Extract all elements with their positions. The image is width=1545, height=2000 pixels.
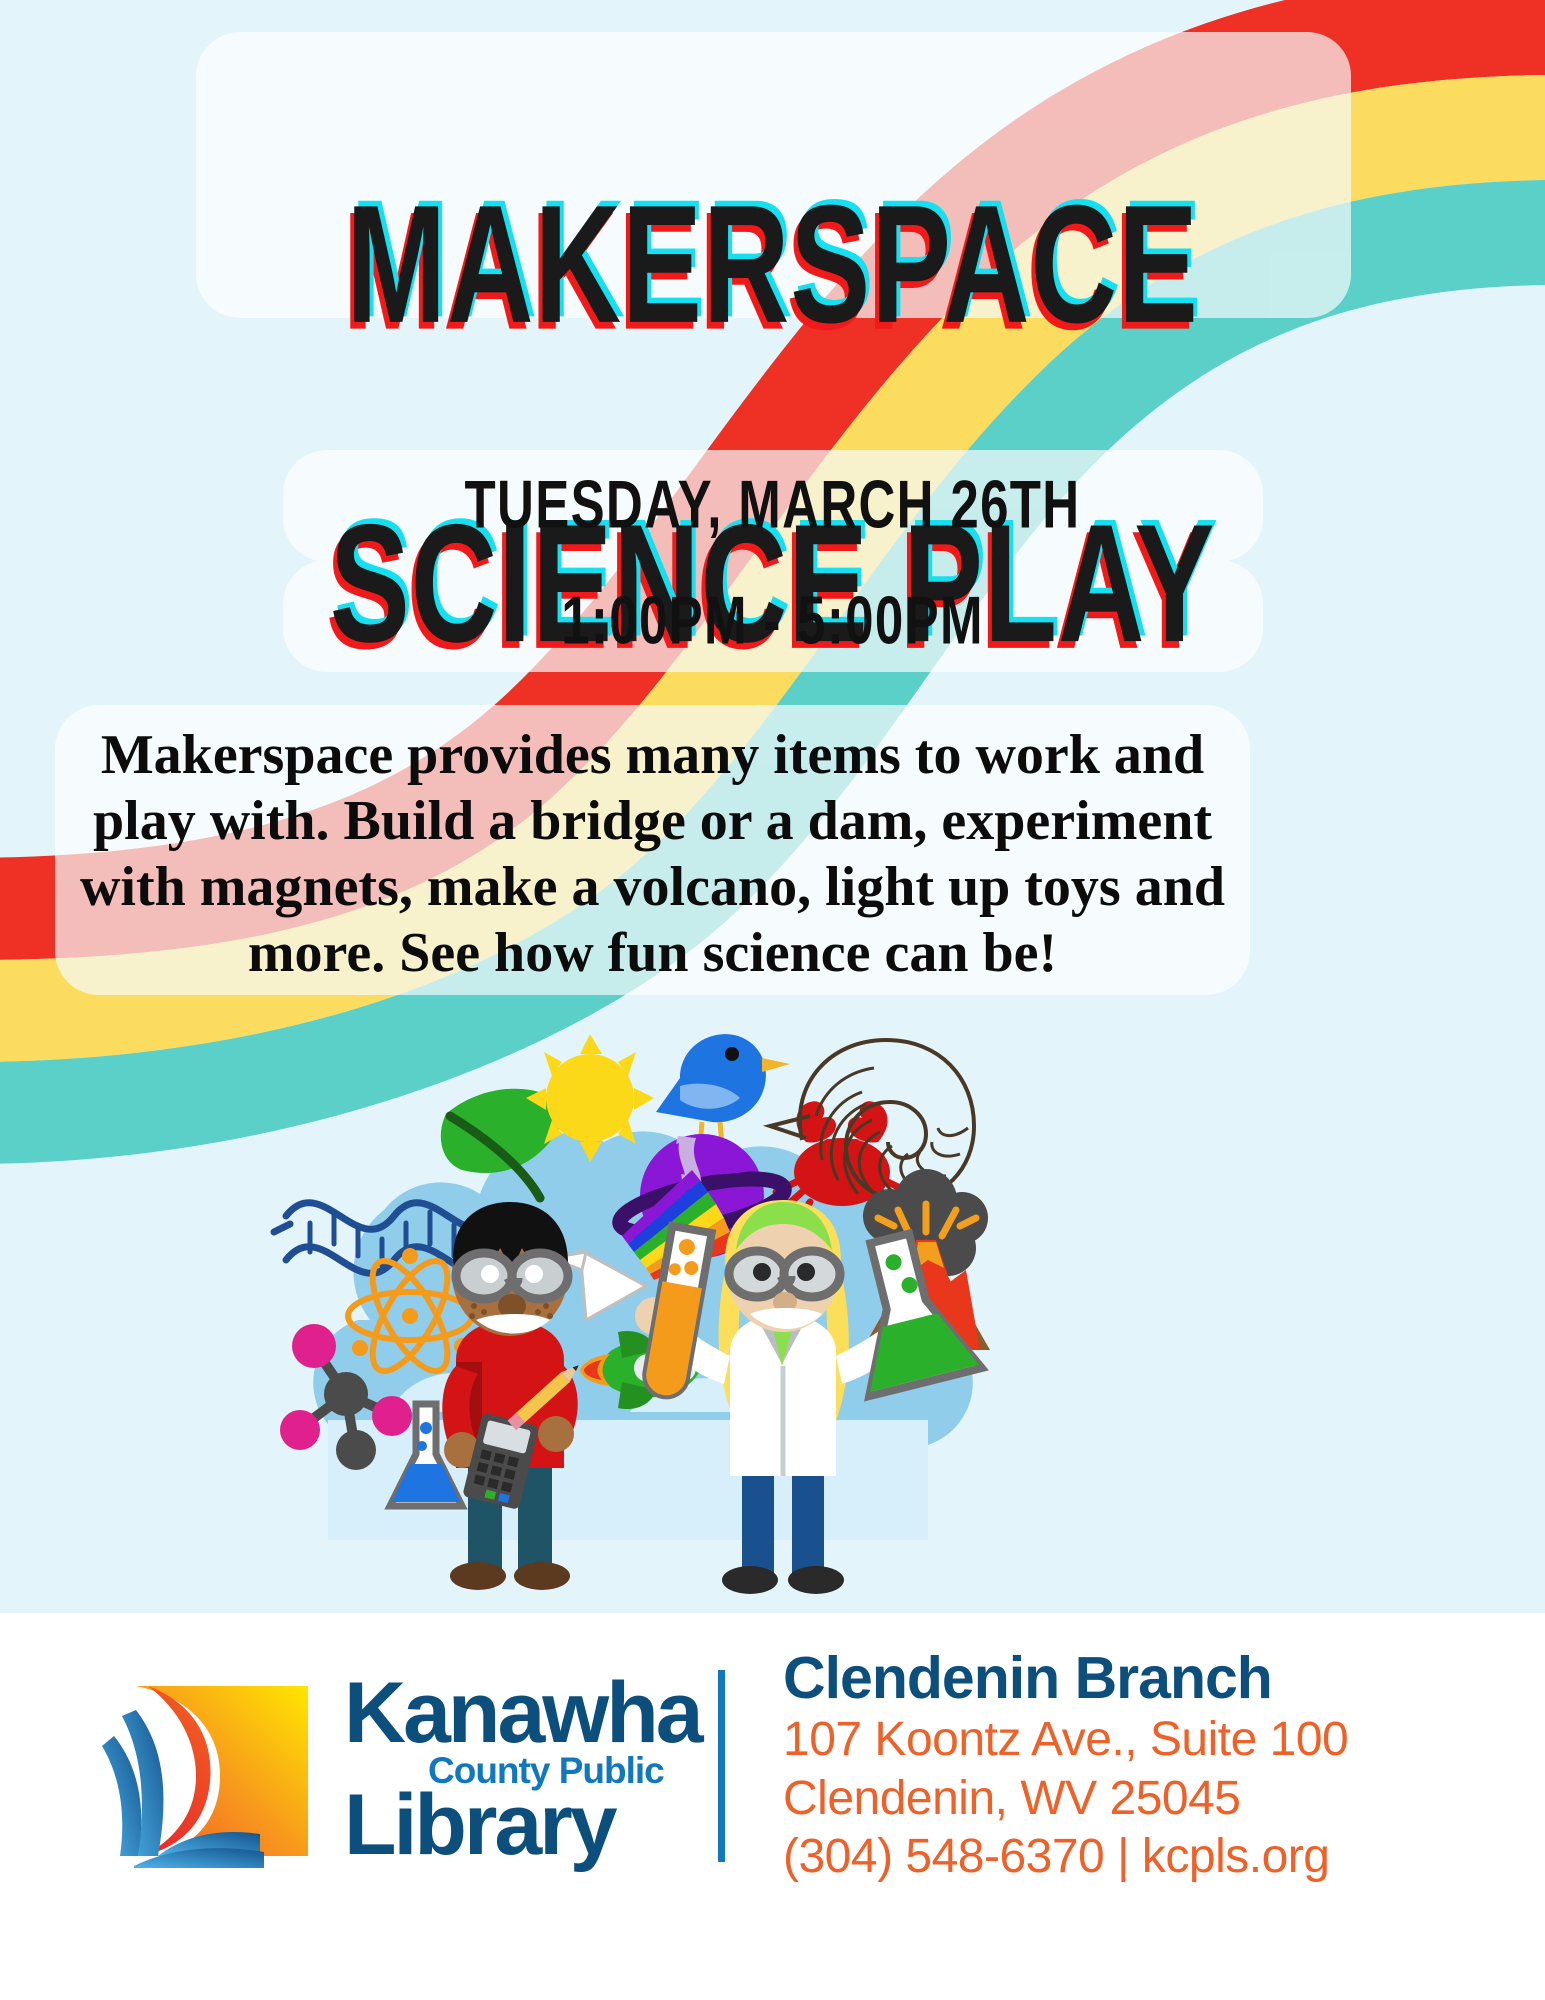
library-logo: Kanawha County Public Library <box>100 1658 674 1873</box>
footer-bar: Kanawha County Public Library Clendenin … <box>0 1613 1545 2000</box>
footer-divider <box>718 1670 725 1862</box>
logo-library-text: Library <box>344 1782 615 1868</box>
logo-kanawha-text: Kanawha <box>344 1670 701 1756</box>
branch-contact-line: (304) 548-6370 | kcpls.org <box>783 1828 1348 1887</box>
sun-icon <box>526 1034 654 1162</box>
poster-canvas: MAKERSPACE SCIENCE PLAY TUESDAY, MARCH 2… <box>0 0 1545 2000</box>
event-date: TUESDAY, MARCH 26TH <box>93 466 1453 544</box>
library-logo-mark <box>100 1658 340 1873</box>
branch-address-line-1: 107 Koontz Ave., Suite 100 <box>783 1711 1348 1770</box>
branch-address-line-2: Clendenin, WV 25045 <box>783 1770 1348 1829</box>
title-line-1: MAKERSPACE <box>155 184 1391 344</box>
poster-title: MAKERSPACE SCIENCE PLAY <box>155 24 1391 822</box>
branch-info: Clendenin Branch 107 Koontz Ave., Suite … <box>783 1645 1348 1887</box>
event-description: Makerspace provides many items to work a… <box>75 722 1230 986</box>
bird-icon <box>656 1034 790 1154</box>
event-time: 1:00PM - 5:00PM <box>93 582 1453 660</box>
science-cloud-illustration <box>250 1020 990 1610</box>
branch-name: Clendenin Branch <box>783 1645 1348 1711</box>
